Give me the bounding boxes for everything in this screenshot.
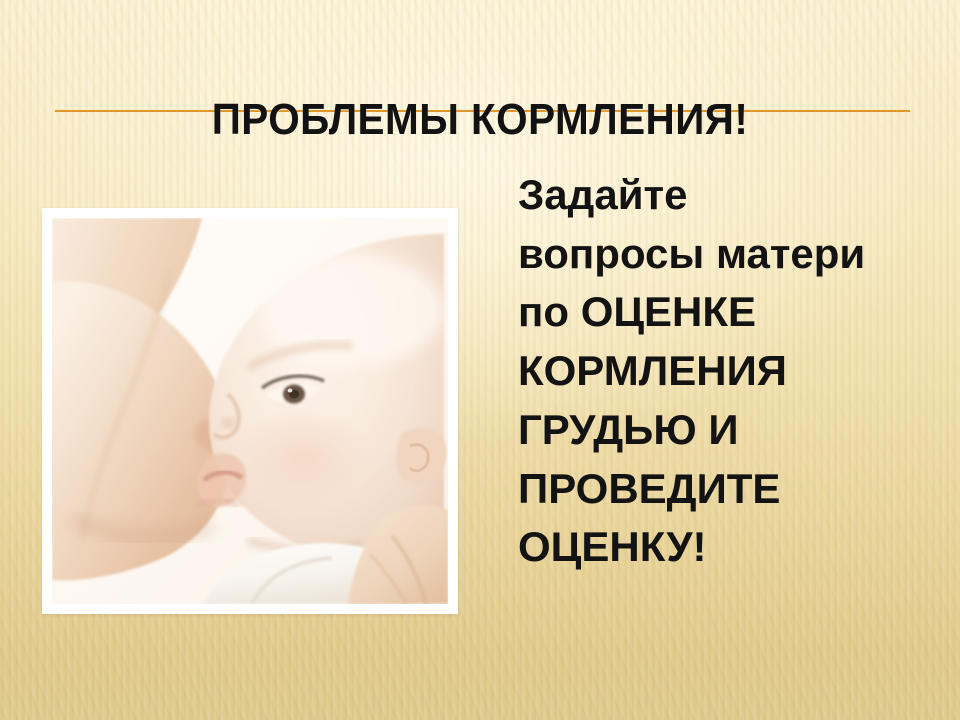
- slide: ПРОБЛЕМЫ КОРМЛЕНИЯ!: [0, 0, 960, 720]
- body-line-5: ГРУДЬЮ И: [518, 401, 918, 460]
- breastfeeding-photo: [52, 218, 448, 604]
- slide-title: ПРОБЛЕМЫ КОРМЛЕНИЯ!: [38, 95, 921, 145]
- slide-body-text: Задайте вопросы матери по ОЦЕНКЕ КОРМЛЕН…: [518, 166, 918, 577]
- body-line-7: ОЦЕНКУ!: [518, 518, 918, 577]
- photo-frame: [42, 208, 458, 614]
- body-line-2: вопросы матери: [518, 225, 918, 284]
- body-line-6: ПРОВЕДИТЕ: [518, 460, 918, 519]
- breastfeeding-photo-illustration: [52, 218, 448, 604]
- body-line-4: КОРМЛЕНИЯ: [518, 342, 918, 401]
- body-line-1: Задайте: [518, 166, 918, 225]
- body-line-3: по ОЦЕНКЕ: [518, 283, 918, 342]
